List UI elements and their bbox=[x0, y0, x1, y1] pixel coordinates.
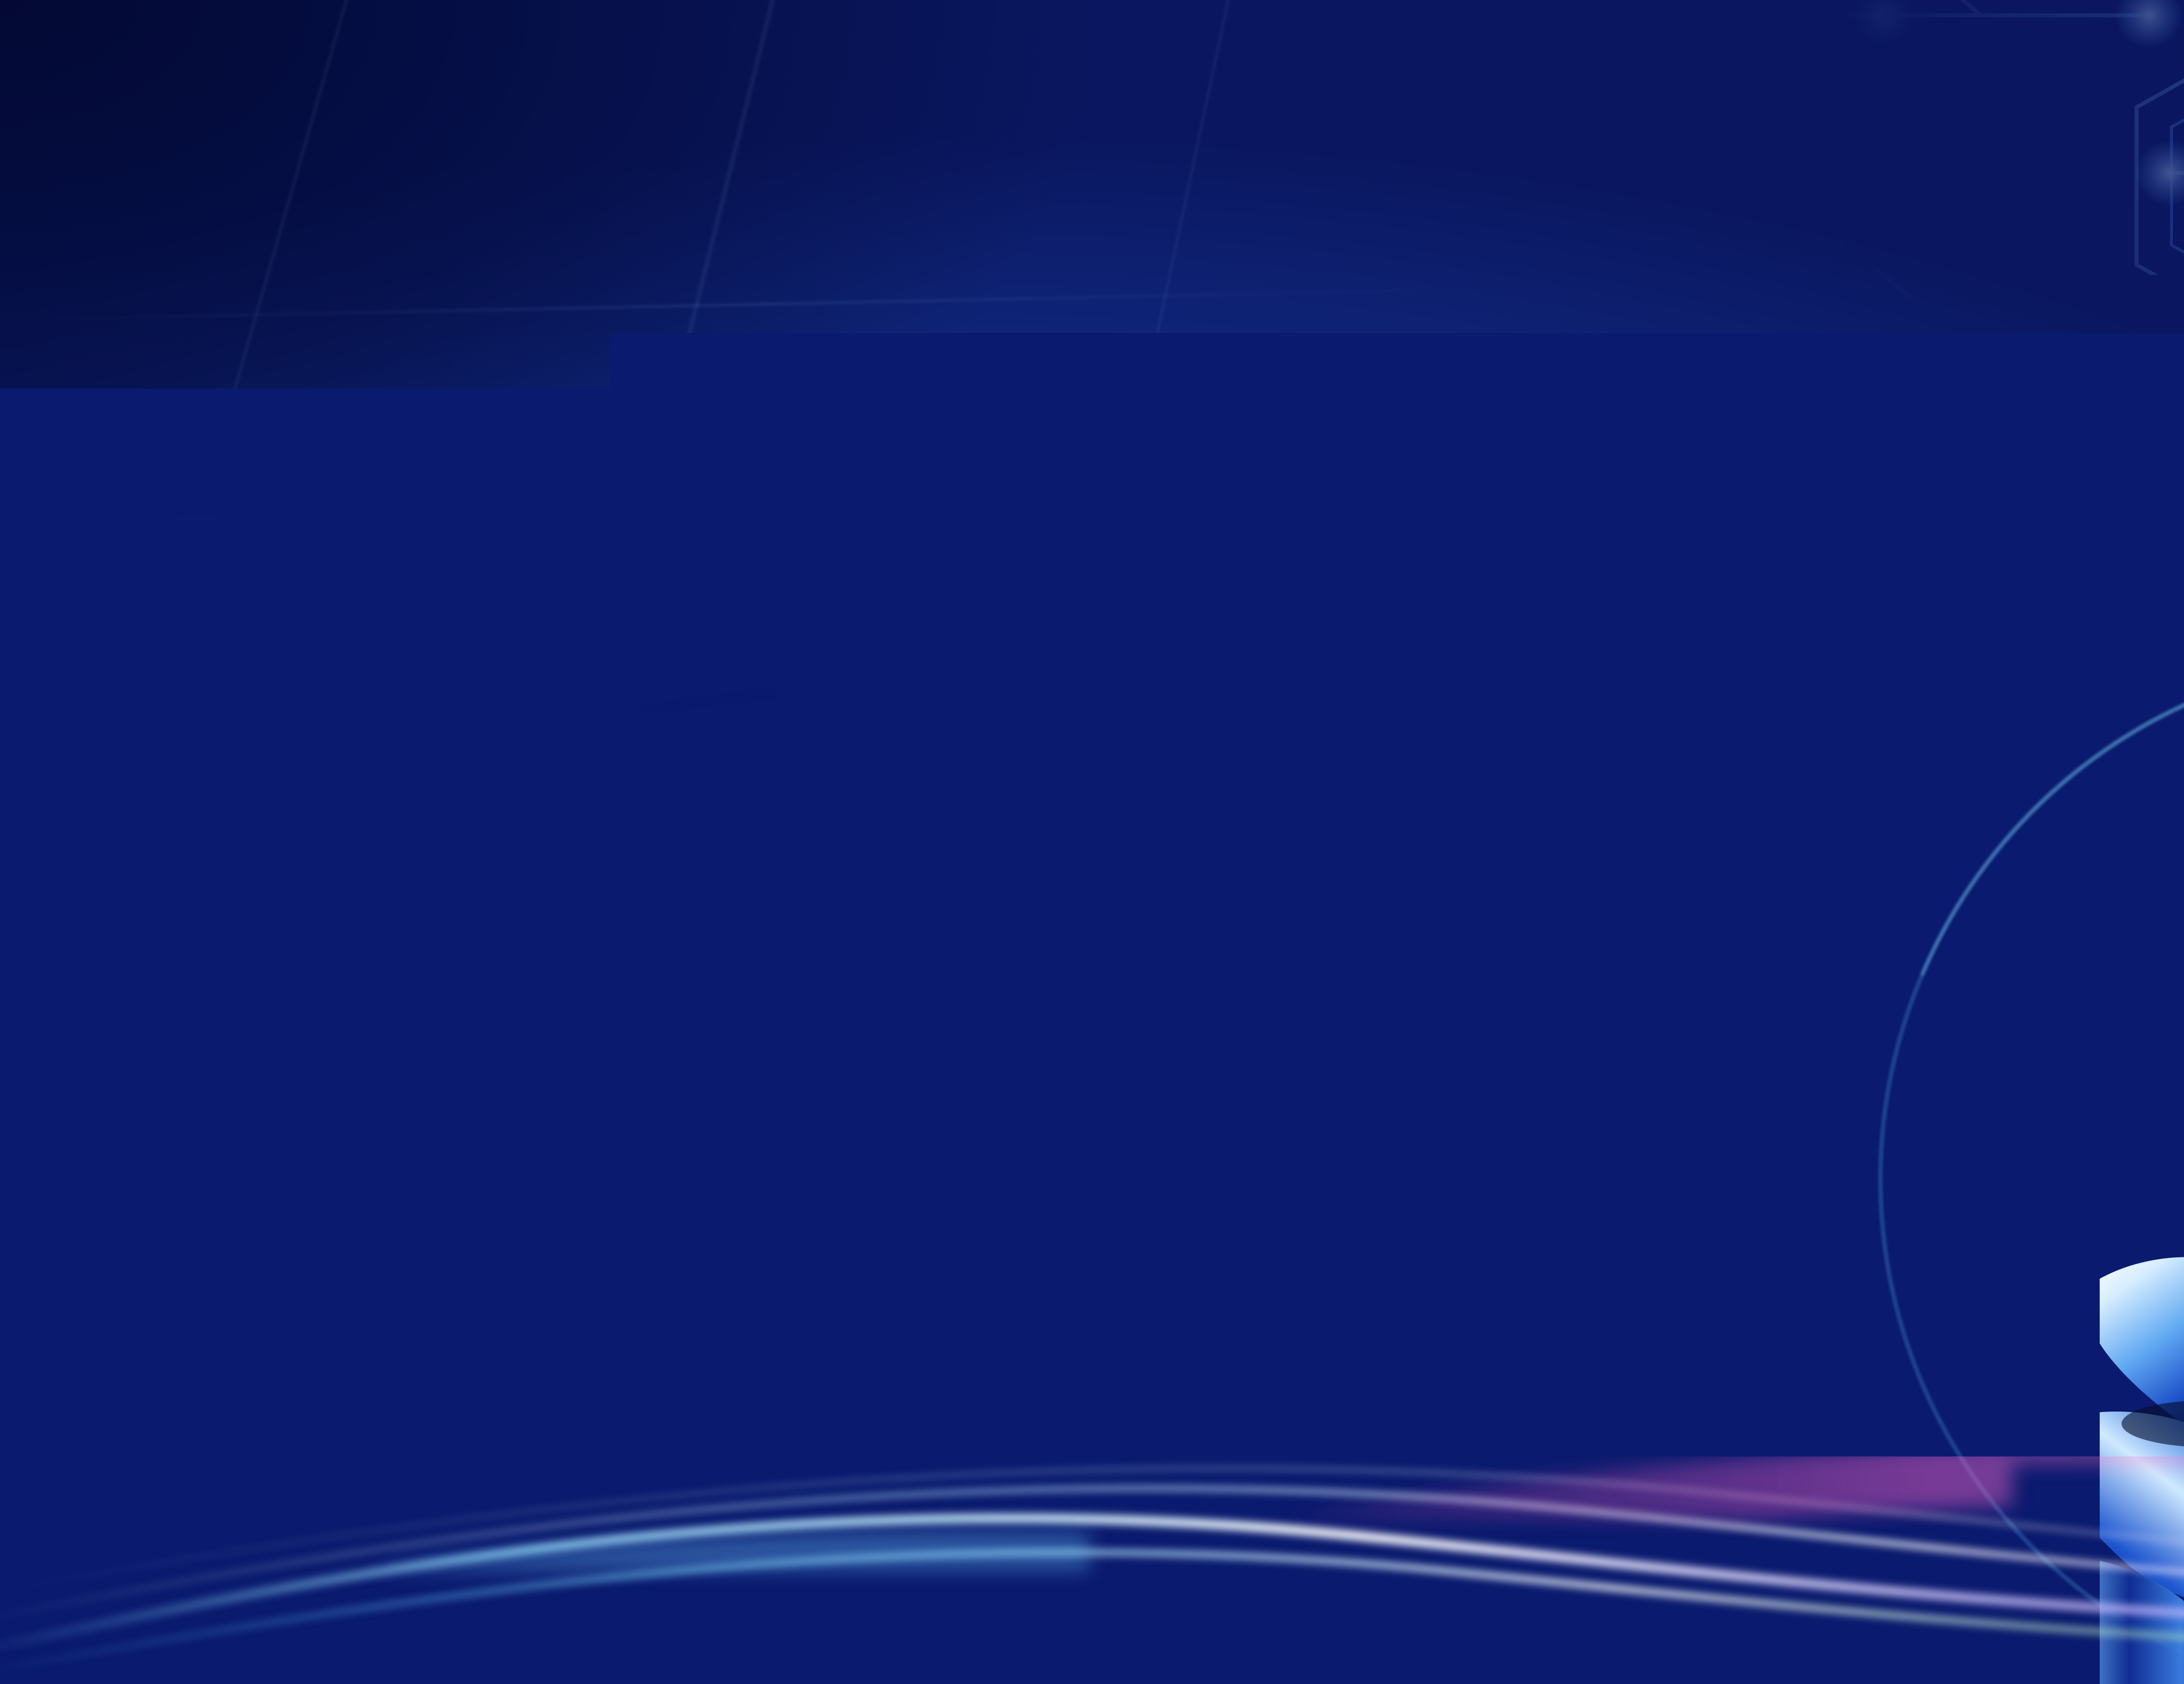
organiser-row: 主办方： 北京市科学技术协会 bbox=[581, 1192, 2153, 1236]
organiser-label: 协办方： bbox=[581, 1351, 812, 1395]
organiser-value: 北京市科技教育中心（北京市科学技术协会党校） 北京市延庆区科学技术协会 bbox=[812, 1272, 2153, 1315]
headline-ai-text: 人工智能 bbox=[594, 220, 1225, 437]
organiser-value: 北京市延庆区十一中学 bbox=[812, 1351, 1188, 1395]
campaign-subtitle: 2/0/2/5/年/弘/扬/科/学/家/精/神/系/列/活/动 bbox=[581, 725, 1799, 795]
yellow-accent-stroke bbox=[885, 393, 896, 479]
event-meta-row: 活动时间： 2025年6月13日 活动地点： 北京市延庆区十一中学 bbox=[577, 904, 2184, 970]
organiser-row: 协办方： 北京市延庆区十一中学 bbox=[581, 1351, 2153, 1395]
headline-spirit-text: 与科学家精神 bbox=[1262, 422, 2158, 620]
headline-block: 人工智能 科技创新 与科学家精神 bbox=[594, 262, 2184, 620]
headline-tech-text: 科技创新 bbox=[1248, 220, 1879, 437]
organiser-value-secondary: 北京市延庆区科学技术协会 bbox=[1702, 1273, 2153, 1314]
poster-canvas: 人工智能 科技创新 与科学家精神 2/0/2/5/年/弘/扬/科/学/家/精/神… bbox=[0, 0, 2184, 1684]
event-place-label: 活动地点： bbox=[1406, 904, 1677, 970]
yellow-accent-stroke bbox=[1160, 279, 1187, 297]
organiser-label: 承办方： bbox=[581, 1272, 812, 1315]
yellow-accent-stroke bbox=[1117, 445, 1140, 510]
organiser-value-primary: 北京市科学技术协会 bbox=[812, 1194, 1151, 1235]
map-pin-icon bbox=[1338, 905, 1387, 969]
organiser-value-primary: 北京市延庆区十一中学 bbox=[812, 1353, 1188, 1394]
event-place-value: 北京市延庆区十一中学 bbox=[1677, 904, 2184, 970]
organiser-value: 北京市科学技术协会 bbox=[812, 1192, 1151, 1236]
organisers-block: 主办方： 北京市科学技术协会 承办方： 北京市科技教育中心（北京市科学技术协会党… bbox=[581, 1192, 2153, 1395]
clock-icon bbox=[577, 910, 628, 964]
event-time-label: 活动时间： bbox=[639, 904, 910, 970]
organiser-value-primary: 北京市科技教育中心（北京市科学技术协会党校） bbox=[812, 1273, 1639, 1314]
headline-line-2: 与科学家精神 bbox=[1262, 458, 2184, 620]
organiser-label: 主办方： bbox=[581, 1192, 812, 1236]
organiser-row: 承办方： 北京市科技教育中心（北京市科学技术协会党校） 北京市延庆区科学技术协会 bbox=[581, 1272, 2153, 1315]
event-time-value: 2025年6月13日 bbox=[910, 904, 1286, 970]
